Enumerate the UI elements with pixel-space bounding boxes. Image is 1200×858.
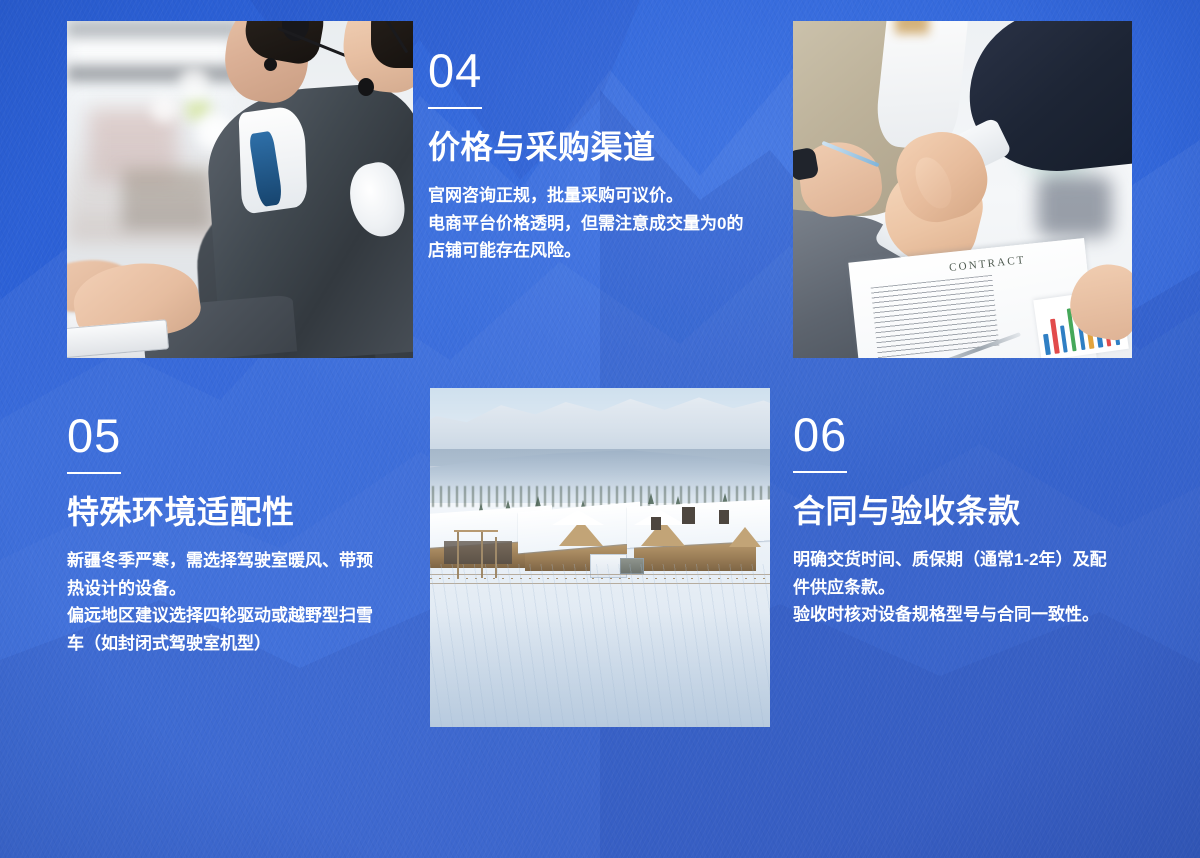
far-gable [729,527,761,547]
photo-snow-village [430,388,770,727]
barn-wall-shadow [444,541,512,565]
section-body: 官网咨询正规，批量采购可议价。 电商平台价格透明，但需注意成交量为0的 店铺可能… [428,182,772,265]
section-06: 06 合同与验收条款 明确交货时间、质保期（通常1-2年）及配 件供应条款。 验… [793,411,1133,629]
person-collar [895,21,929,34]
call-center-scene [67,21,413,358]
snow-foreground-shadow [430,612,770,727]
bokeh-highlight [174,65,214,99]
background-blur-dark [1037,176,1112,237]
bokeh-highlight [147,92,181,126]
contract-body-lines [871,274,1000,357]
window-frame-bar [67,65,240,82]
section-title: 合同与验收条款 [793,492,1133,530]
section-body: 明确交货时间、质保期（通常1-2年）及配 件供应条款。 验收时核对设备规格型号与… [793,546,1133,629]
section-number: 04 [428,47,772,94]
chimney [651,517,661,531]
lodge-gable-snow [552,510,604,525]
section-divider [67,472,121,474]
chimney [682,507,696,524]
handshake-scene: CONTRACT [793,21,1132,358]
headset-microphone-icon [358,78,374,96]
section-title: 价格与采购渠道 [428,128,772,166]
section-05: 05 特殊环境适配性 新疆冬季严寒，需选择驾驶室暖风、带预 热设计的设备。 偏远… [67,412,419,658]
section-body: 新疆冬季严寒，需选择驾驶室暖风、带预 热设计的设备。 偏远地区建议选择四轮驱动或… [67,547,419,657]
chimney [719,510,729,524]
background-shelf [122,169,212,230]
snow-village-scene [430,388,770,727]
photo-call-center [67,21,413,358]
pine-tree-icon [648,493,654,504]
infographic-page: CONTRACT [0,0,1200,858]
section-number: 06 [793,411,1133,458]
section-04: 04 价格与采购渠道 官网咨询正规，批量采购可议价。 电商平台价格透明，但需注意… [428,47,772,265]
section-divider [428,107,482,109]
timber-beam [454,530,498,532]
section-title: 特殊环境适配性 [67,493,419,531]
section-divider [793,471,847,473]
section-number: 05 [67,412,419,459]
photo-handshake: CONTRACT [793,21,1132,358]
window-frame-top [67,21,240,38]
